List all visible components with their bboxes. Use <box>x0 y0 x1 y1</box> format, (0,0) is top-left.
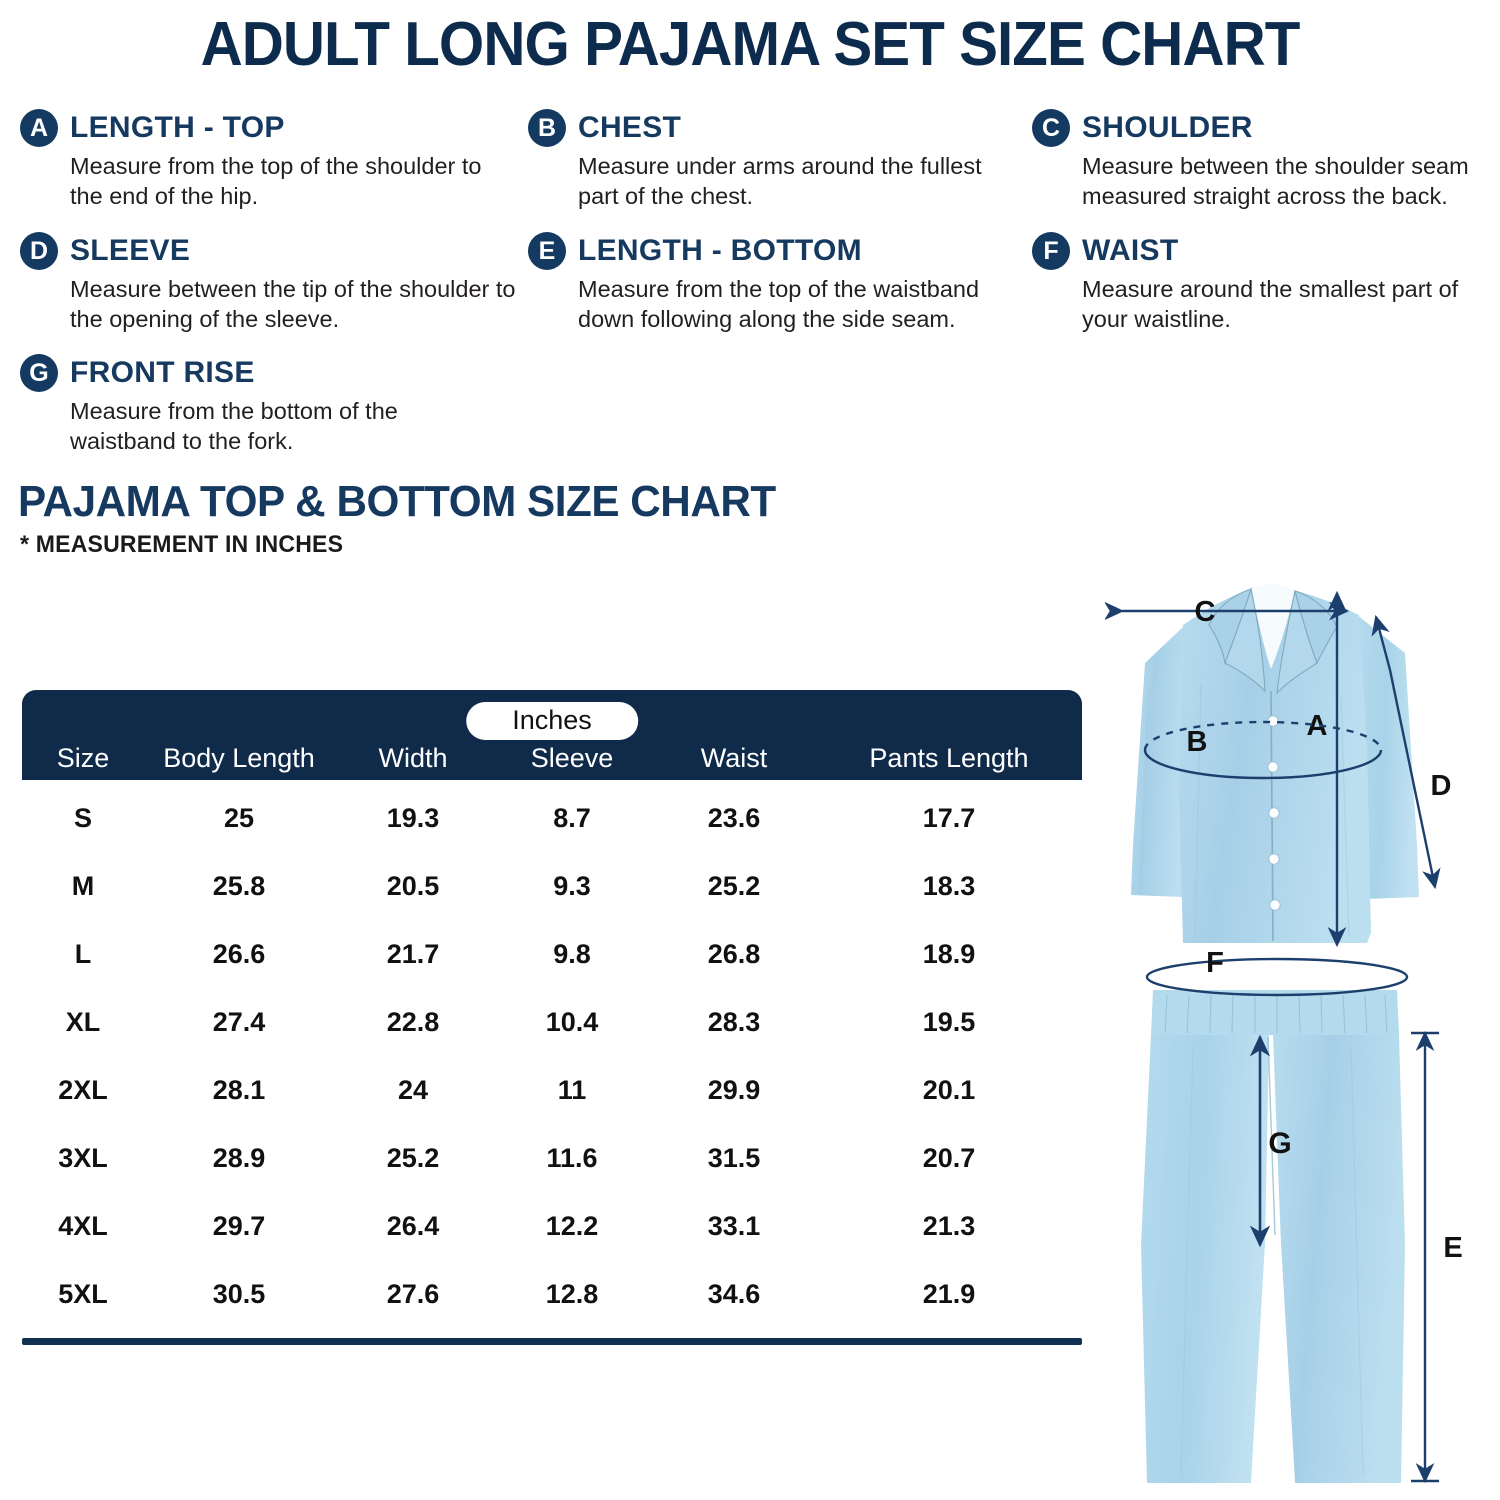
definition-desc-c: Measure between the shoulder seam measur… <box>1082 151 1500 211</box>
size-cell: 4XL <box>22 1211 144 1242</box>
definition-head-d: D SLEEVE <box>20 231 530 271</box>
table-row: 3XL28.925.211.631.520.7 <box>22 1124 1082 1192</box>
measurement-cell: 26.6 <box>144 939 334 970</box>
pajama-bottom-graphic <box>1141 990 1405 1483</box>
measurement-cell: 17.7 <box>816 803 1082 834</box>
definition-item-f: F WAIST Measure around the smallest part… <box>1032 231 1492 334</box>
size-cell: 3XL <box>22 1143 144 1174</box>
definition-head-f: F WAIST <box>1032 231 1492 271</box>
column-header-width: Width <box>334 744 492 774</box>
measurement-cell: 11 <box>492 1075 652 1106</box>
definition-desc-e: Measure from the top of the waistband do… <box>578 274 1018 334</box>
marker-g-label: G <box>1268 1127 1291 1160</box>
badge-b-icon: B <box>528 109 566 147</box>
table-row: 4XL29.726.412.233.121.3 <box>22 1192 1082 1260</box>
badge-f-icon: F <box>1032 232 1070 270</box>
definition-desc-d: Measure between the tip of the shoulder … <box>70 274 530 334</box>
measurement-cell: 29.9 <box>652 1075 816 1106</box>
garment-illustration: C A B D <box>1105 545 1500 1495</box>
size-table: Inches Size Body Length Width Sleeve Wai… <box>22 690 1082 1345</box>
marker-d-label: D <box>1431 770 1452 802</box>
measurement-cell: 33.1 <box>652 1211 816 1242</box>
marker-c-label: C <box>1195 596 1216 628</box>
measurement-cell: 22.8 <box>334 1007 492 1038</box>
definition-item-a: A LENGTH - TOP Measure from the top of t… <box>20 108 510 211</box>
measurement-cell: 20.5 <box>334 871 492 902</box>
measurement-unit-note: * MEASUREMENT IN INCHES <box>20 531 343 559</box>
definition-label-e: LENGTH - BOTTOM <box>578 231 862 271</box>
measurement-cell: 19.3 <box>334 803 492 834</box>
table-row: XL27.422.810.428.319.5 <box>22 988 1082 1056</box>
measurement-cell: 25.2 <box>652 871 816 902</box>
unit-badge: Inches <box>466 702 638 740</box>
definition-head-e: E LENGTH - BOTTOM <box>528 231 1018 271</box>
definition-label-d: SLEEVE <box>70 231 190 271</box>
measurement-cell: 25.2 <box>334 1143 492 1174</box>
measurement-cell: 28.9 <box>144 1143 334 1174</box>
definition-label-f: WAIST <box>1082 231 1179 271</box>
size-cell: M <box>22 871 144 902</box>
table-body: S2519.38.723.617.7M25.820.59.325.218.3L2… <box>22 780 1082 1328</box>
table-row: S2519.38.723.617.7 <box>22 784 1082 852</box>
measurement-cell: 12.8 <box>492 1279 652 1310</box>
definition-label-a: LENGTH - TOP <box>70 108 285 148</box>
measurement-cell: 30.5 <box>144 1279 334 1310</box>
definition-item-d: D SLEEVE Measure between the tip of the … <box>20 231 530 334</box>
definition-desc-b: Measure under arms around the fullest pa… <box>578 151 998 211</box>
measurement-cell: 9.3 <box>492 871 652 902</box>
definition-label-c: SHOULDER <box>1082 108 1253 148</box>
definition-head-c: C SHOULDER <box>1032 108 1500 148</box>
column-header-size: Size <box>22 744 144 774</box>
definition-item-e: E LENGTH - BOTTOM Measure from the top o… <box>528 231 1018 334</box>
section-heading: PAJAMA TOP & BOTTOM SIZE CHART <box>18 477 776 527</box>
measurement-cell: 12.2 <box>492 1211 652 1242</box>
measurement-cell: 24 <box>334 1075 492 1106</box>
measurement-cell: 10.4 <box>492 1007 652 1038</box>
size-chart-page: ADULT LONG PAJAMA SET SIZE CHART A LENGT… <box>0 0 1500 1500</box>
size-cell: 5XL <box>22 1279 144 1310</box>
measurement-cell: 18.9 <box>816 939 1082 970</box>
table-header-row: Size Body Length Width Sleeve Waist Pant… <box>22 744 1082 774</box>
measurement-cell: 28.1 <box>144 1075 334 1106</box>
measurement-cell: 21.9 <box>816 1279 1082 1310</box>
marker-e-label: E <box>1443 1232 1462 1264</box>
definition-label-g: FRONT RISE <box>70 353 255 393</box>
badge-a-icon: A <box>20 109 58 147</box>
marker-f-ellipse <box>1147 959 1407 995</box>
badge-e-icon: E <box>528 232 566 270</box>
column-header-waist: Waist <box>652 744 816 774</box>
measurement-cell: 27.6 <box>334 1279 492 1310</box>
measurement-cell: 20.7 <box>816 1143 1082 1174</box>
measurement-cell: 26.4 <box>334 1211 492 1242</box>
measurement-cell: 25 <box>144 803 334 834</box>
size-cell: XL <box>22 1007 144 1038</box>
measurement-cell: 25.8 <box>144 871 334 902</box>
measurement-cell: 19.5 <box>816 1007 1082 1038</box>
marker-f-label: F <box>1206 947 1224 979</box>
definition-head-b: B CHEST <box>528 108 998 148</box>
table-row: 2XL28.1241129.920.1 <box>22 1056 1082 1124</box>
marker-e-arrow <box>1411 1033 1439 1481</box>
column-header-sleeve: Sleeve <box>492 744 652 774</box>
size-cell: S <box>22 803 144 834</box>
page-title: ADULT LONG PAJAMA SET SIZE CHART <box>45 14 1455 76</box>
measurement-cell: 29.7 <box>144 1211 334 1242</box>
definition-desc-g: Measure from the bottom of the waistband… <box>70 396 460 456</box>
definition-head-g: G FRONT RISE <box>20 353 460 393</box>
table-row: M25.820.59.325.218.3 <box>22 852 1082 920</box>
marker-b-label: B <box>1187 726 1208 758</box>
table-header: Inches Size Body Length Width Sleeve Wai… <box>22 690 1082 780</box>
measurement-cell: 23.6 <box>652 803 816 834</box>
column-header-pants-length: Pants Length <box>816 744 1082 774</box>
definition-desc-f: Measure around the smallest part of your… <box>1082 274 1492 334</box>
table-bottom-rule <box>22 1338 1082 1345</box>
pajama-top-graphic <box>1131 584 1419 943</box>
measurement-cell: 20.1 <box>816 1075 1082 1106</box>
measurement-cell: 9.8 <box>492 939 652 970</box>
measurement-cell: 21.7 <box>334 939 492 970</box>
table-row: L26.621.79.826.818.9 <box>22 920 1082 988</box>
definition-item-b: B CHEST Measure under arms around the fu… <box>528 108 998 211</box>
badge-g-icon: G <box>20 354 58 392</box>
measurement-cell: 18.3 <box>816 871 1082 902</box>
measurement-cell: 21.3 <box>816 1211 1082 1242</box>
definition-item-g: G FRONT RISE Measure from the bottom of … <box>20 353 460 456</box>
badge-d-icon: D <box>20 232 58 270</box>
definition-item-c: C SHOULDER Measure between the shoulder … <box>1032 108 1500 211</box>
definition-head-a: A LENGTH - TOP <box>20 108 510 148</box>
measurement-cell: 26.8 <box>652 939 816 970</box>
measurement-cell: 28.3 <box>652 1007 816 1038</box>
measurement-cell: 34.6 <box>652 1279 816 1310</box>
size-cell: 2XL <box>22 1075 144 1106</box>
badge-c-icon: C <box>1032 109 1070 147</box>
measurement-cell: 11.6 <box>492 1143 652 1174</box>
column-header-body-length: Body Length <box>144 744 334 774</box>
table-row: 5XL30.527.612.834.621.9 <box>22 1260 1082 1328</box>
definition-desc-a: Measure from the top of the shoulder to … <box>70 151 510 211</box>
definition-label-b: CHEST <box>578 108 681 148</box>
size-cell: L <box>22 939 144 970</box>
measurement-cell: 27.4 <box>144 1007 334 1038</box>
measurement-cell: 8.7 <box>492 803 652 834</box>
measurement-cell: 31.5 <box>652 1143 816 1174</box>
